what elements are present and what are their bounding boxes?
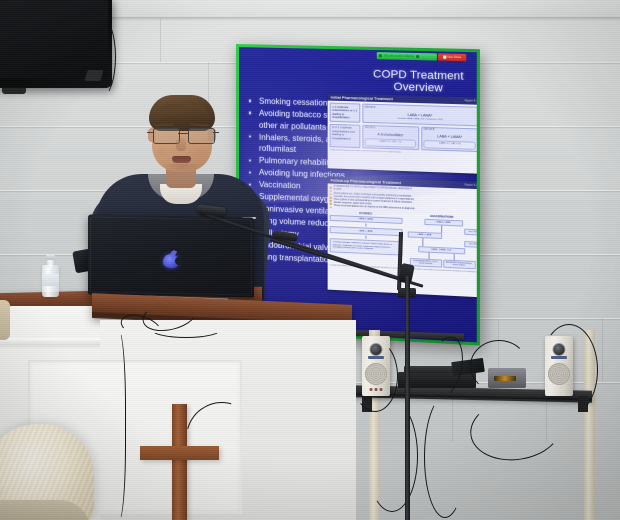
- group-b-treatment: LABA + LAMA*: [423, 133, 476, 140]
- laptop[interactable]: [88, 214, 254, 297]
- exacerbations-column: EXACERBATIONS LABA or LAMA LABA + LAMA L…: [405, 214, 477, 271]
- eos-label: eos ≥ 300: [464, 241, 477, 248]
- figure-initial-treatment: Initial Pharmacological Treatment Figure…: [328, 93, 477, 173]
- exac-node: LABA + LAMA: [407, 231, 442, 239]
- podium-cable-drop: [108, 330, 126, 520]
- presenter-chin-shadow: [162, 164, 202, 174]
- glasses-bridge: [178, 133, 188, 134]
- gold-grid: ≥ 2 moderate exacerbations or ≥ 1 leadin…: [330, 103, 477, 152]
- wooden-cross-vertical: [172, 404, 187, 520]
- microphone-stand-pole: [405, 276, 410, 520]
- presenter-mouth: [172, 156, 191, 163]
- glasses-temple-right: [213, 132, 219, 133]
- followup-notes: IF RESPONSE TO INITIAL TREATMENT IS APPR…: [330, 186, 477, 215]
- flow-arrow: [365, 224, 366, 227]
- slide-title: COPD Treatment Overview: [358, 68, 477, 96]
- floor-cable: [366, 400, 418, 512]
- apple-bite: [175, 257, 182, 265]
- tv-cable: [86, 16, 116, 98]
- bottle-cap: [46, 255, 55, 260]
- lens-right: [188, 128, 215, 144]
- screen-share-toolbar[interactable]: You are screen sharing Stop Share: [377, 52, 466, 61]
- figure-initial-title: Initial Pharmacological Treatment: [331, 95, 393, 101]
- equipment-cable: [470, 340, 528, 392]
- share-status-pill: You are screen sharing: [377, 52, 437, 60]
- apple-logo-icon: [163, 250, 179, 268]
- slide-surface: You are screen sharing Stop Share COPD T…: [239, 47, 477, 342]
- podium-cable: [150, 320, 222, 338]
- exac-node: LABA or LAMA: [424, 219, 463, 227]
- presenter-cheek-right: [194, 146, 208, 158]
- water-bottle[interactable]: [42, 255, 59, 297]
- bullet-text: Supplemental oxygen: [259, 192, 338, 204]
- equipment-cable: [540, 324, 598, 416]
- bullet-text: Vaccination: [259, 180, 301, 191]
- dyspnea-footer-box: • If inhaler technique / adherence revie…: [330, 238, 402, 256]
- presenter-nose: [176, 138, 186, 151]
- floor-cable: [424, 396, 466, 518]
- criteria-box-ab: 0 or 1 moderate exacerbations (not leadi…: [330, 124, 361, 149]
- photograph-scene: You are screen sharing Stop Share COPD T…: [0, 0, 620, 520]
- stop-share-button[interactable]: Stop Share: [438, 53, 466, 61]
- stop-square-icon: [443, 56, 446, 59]
- share-dot-icon: [379, 54, 382, 57]
- exac-node: LABA + LAMA + ICS: [418, 246, 465, 255]
- figure-followup-number: Figure 4.2: [464, 184, 476, 188]
- criteria-box-e: ≥ 2 moderate exacerbations or ≥ 1 leadin…: [330, 103, 361, 123]
- exacerbations-flowchart: LABA or LAMA LABA + LAMA LABA + LAMA + I…: [405, 218, 477, 270]
- group-e-box: GROUP E LABA + LAMA* Consider LABA+LAMA+…: [362, 104, 477, 127]
- tv-bottom-stub: [2, 88, 26, 94]
- group-a-treatment: A bronchodilator: [365, 131, 417, 138]
- bullet-text: Smoking cessation: [259, 97, 328, 108]
- glasses-temple-left: [147, 132, 153, 133]
- figure-initial-number: Figure 4.1: [464, 99, 476, 102]
- presenter-hair-fringe: [154, 104, 210, 120]
- exac-outcome: AZITHROMYCIN preferentially in former sm…: [443, 260, 476, 270]
- group-b-pill: mMRC ≥ 2, CAT ≥ 10: [423, 140, 476, 149]
- group-a-box: GROUP A A bronchodilator mMRC 0-1, CAT <…: [362, 125, 419, 151]
- flow-arrow: [365, 236, 366, 239]
- share-status-label: You are screen sharing: [384, 54, 414, 58]
- presenter-cheek-left: [154, 146, 168, 158]
- figure-initial-body: ≥ 2 moderate exacerbations or ≥ 1 leadin…: [328, 101, 477, 158]
- stop-share-label: Stop Share: [447, 56, 462, 59]
- bottle-label: [42, 274, 59, 286]
- group-a-pill: mMRC 0-1, CAT < 10: [365, 138, 417, 147]
- group-b-box: GROUP B LABA + LAMA* mMRC ≥ 2, CAT ≥ 10: [421, 126, 477, 152]
- share-dot-icon-2: [416, 55, 419, 58]
- audience-edge-sliver: [0, 300, 10, 340]
- eos-label: eos < 300: [464, 229, 477, 236]
